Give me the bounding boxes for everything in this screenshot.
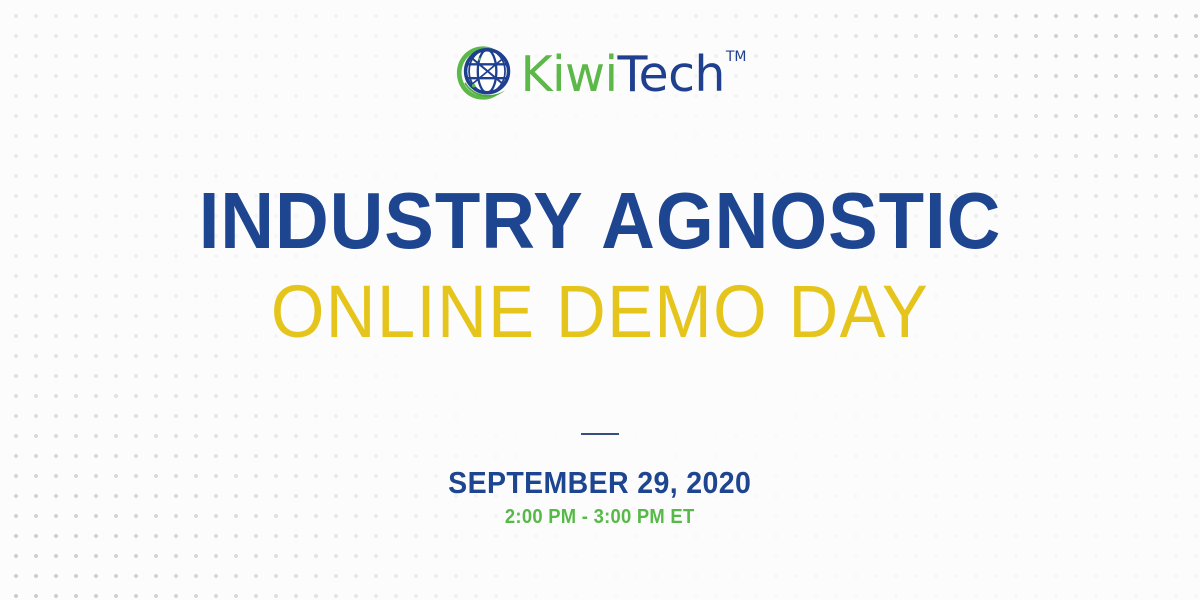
headline-block: INDUSTRY AGNOSTIC ONLINE DEMO DAY xyxy=(0,182,1200,349)
logo-word-tech: Tech xyxy=(618,46,725,103)
trademark-icon: TM xyxy=(726,49,747,65)
kiwitech-wordmark: KiwiTechTM xyxy=(520,50,745,99)
event-banner: KiwiTechTM INDUSTRY AGNOSTIC ONLINE DEMO… xyxy=(0,0,1200,600)
logo-word-kiwi: Kiwi xyxy=(520,46,617,103)
event-time: 2:00 PM - 3:00 PM ET xyxy=(448,507,751,527)
headline-secondary: ONLINE DEMO DAY xyxy=(42,274,1158,349)
headline-primary: INDUSTRY AGNOSTIC xyxy=(42,182,1158,260)
banner-content: KiwiTechTM INDUSTRY AGNOSTIC ONLINE DEMO… xyxy=(0,0,1200,600)
section-divider xyxy=(581,433,619,435)
event-details: SEPTEMBER 29, 2020 2:00 PM - 3:00 PM ET xyxy=(435,467,764,527)
event-date: SEPTEMBER 29, 2020 xyxy=(448,467,751,498)
kiwitech-logo: KiwiTechTM xyxy=(454,42,745,104)
kiwitech-globe-icon xyxy=(454,44,512,102)
